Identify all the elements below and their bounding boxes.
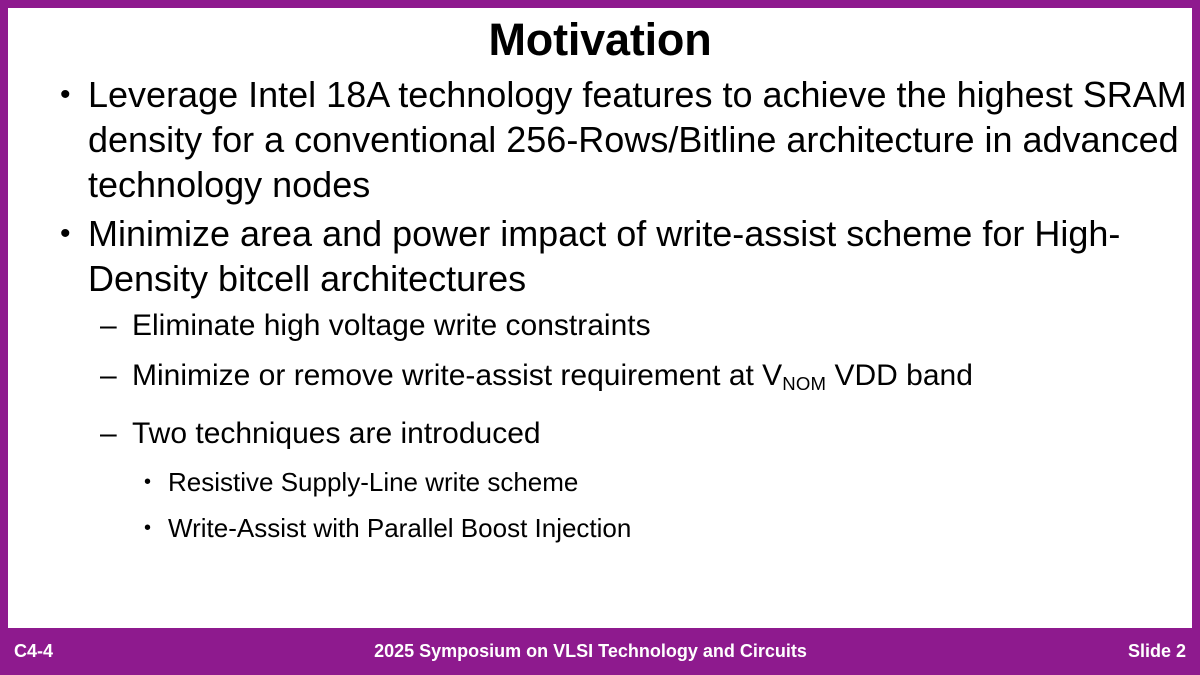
- bullet-text-after: VDD band: [826, 359, 973, 392]
- slide-footer: C4-4 2025 Symposium on VLSI Technology a…: [0, 628, 1200, 675]
- dash-marker-icon: –: [100, 351, 117, 401]
- bullet-level2-item: – Minimize or remove write-assist requir…: [8, 351, 1192, 409]
- slide-border-right: [1192, 0, 1200, 675]
- footer-conference-name: 2025 Symposium on VLSI Technology and Ci…: [53, 641, 1128, 662]
- bullet-level1-item: • Minimize area and power impact of writ…: [8, 211, 1192, 301]
- bullet-level3-item: • Resistive Supply-Line write scheme: [8, 459, 1192, 505]
- bullet-text: Minimize area and power impact of write-…: [88, 213, 1120, 299]
- dash-marker-icon: –: [100, 301, 117, 351]
- slide-border-top: [0, 0, 1200, 8]
- bullet-text: Write-Assist with Parallel Boost Injecti…: [168, 513, 631, 543]
- bullet-text: Minimize or remove write-assist requirem…: [132, 359, 973, 392]
- bullet-text: Two techniques are introduced: [132, 417, 541, 450]
- bullet-text: Leverage Intel 18A technology features t…: [88, 74, 1187, 205]
- bullet-text-before: Minimize or remove write-assist requirem…: [132, 359, 782, 392]
- bullet-level1-item: • Leverage Intel 18A technology features…: [8, 72, 1192, 207]
- footer-slide-number: Slide 2: [1128, 641, 1186, 662]
- subscript-nom: NOM: [782, 373, 826, 394]
- bullet-level2-item: – Eliminate high voltage write constrain…: [8, 301, 1192, 351]
- bullet-marker-icon: •: [60, 211, 71, 256]
- slide-border-left: [0, 0, 8, 675]
- bullet-marker-icon: •: [60, 72, 71, 117]
- slide-title: Motivation: [8, 17, 1192, 62]
- bullet-level3-item: • Write-Assist with Parallel Boost Injec…: [8, 505, 1192, 551]
- bullet-text: Resistive Supply-Line write scheme: [168, 467, 578, 497]
- presentation-slide: Motivation • Leverage Intel 18A technolo…: [0, 0, 1200, 675]
- footer-session-id: C4-4: [14, 641, 53, 662]
- bullet-list: • Leverage Intel 18A technology features…: [8, 72, 1192, 551]
- bullet-marker-icon: •: [144, 459, 151, 505]
- slide-content: Motivation • Leverage Intel 18A technolo…: [8, 8, 1192, 625]
- bullet-level2-item: – Two techniques are introduced: [8, 409, 1192, 459]
- bullet-marker-icon: •: [144, 505, 151, 551]
- bullet-text: Eliminate high voltage write constraints: [132, 309, 651, 342]
- dash-marker-icon: –: [100, 409, 117, 459]
